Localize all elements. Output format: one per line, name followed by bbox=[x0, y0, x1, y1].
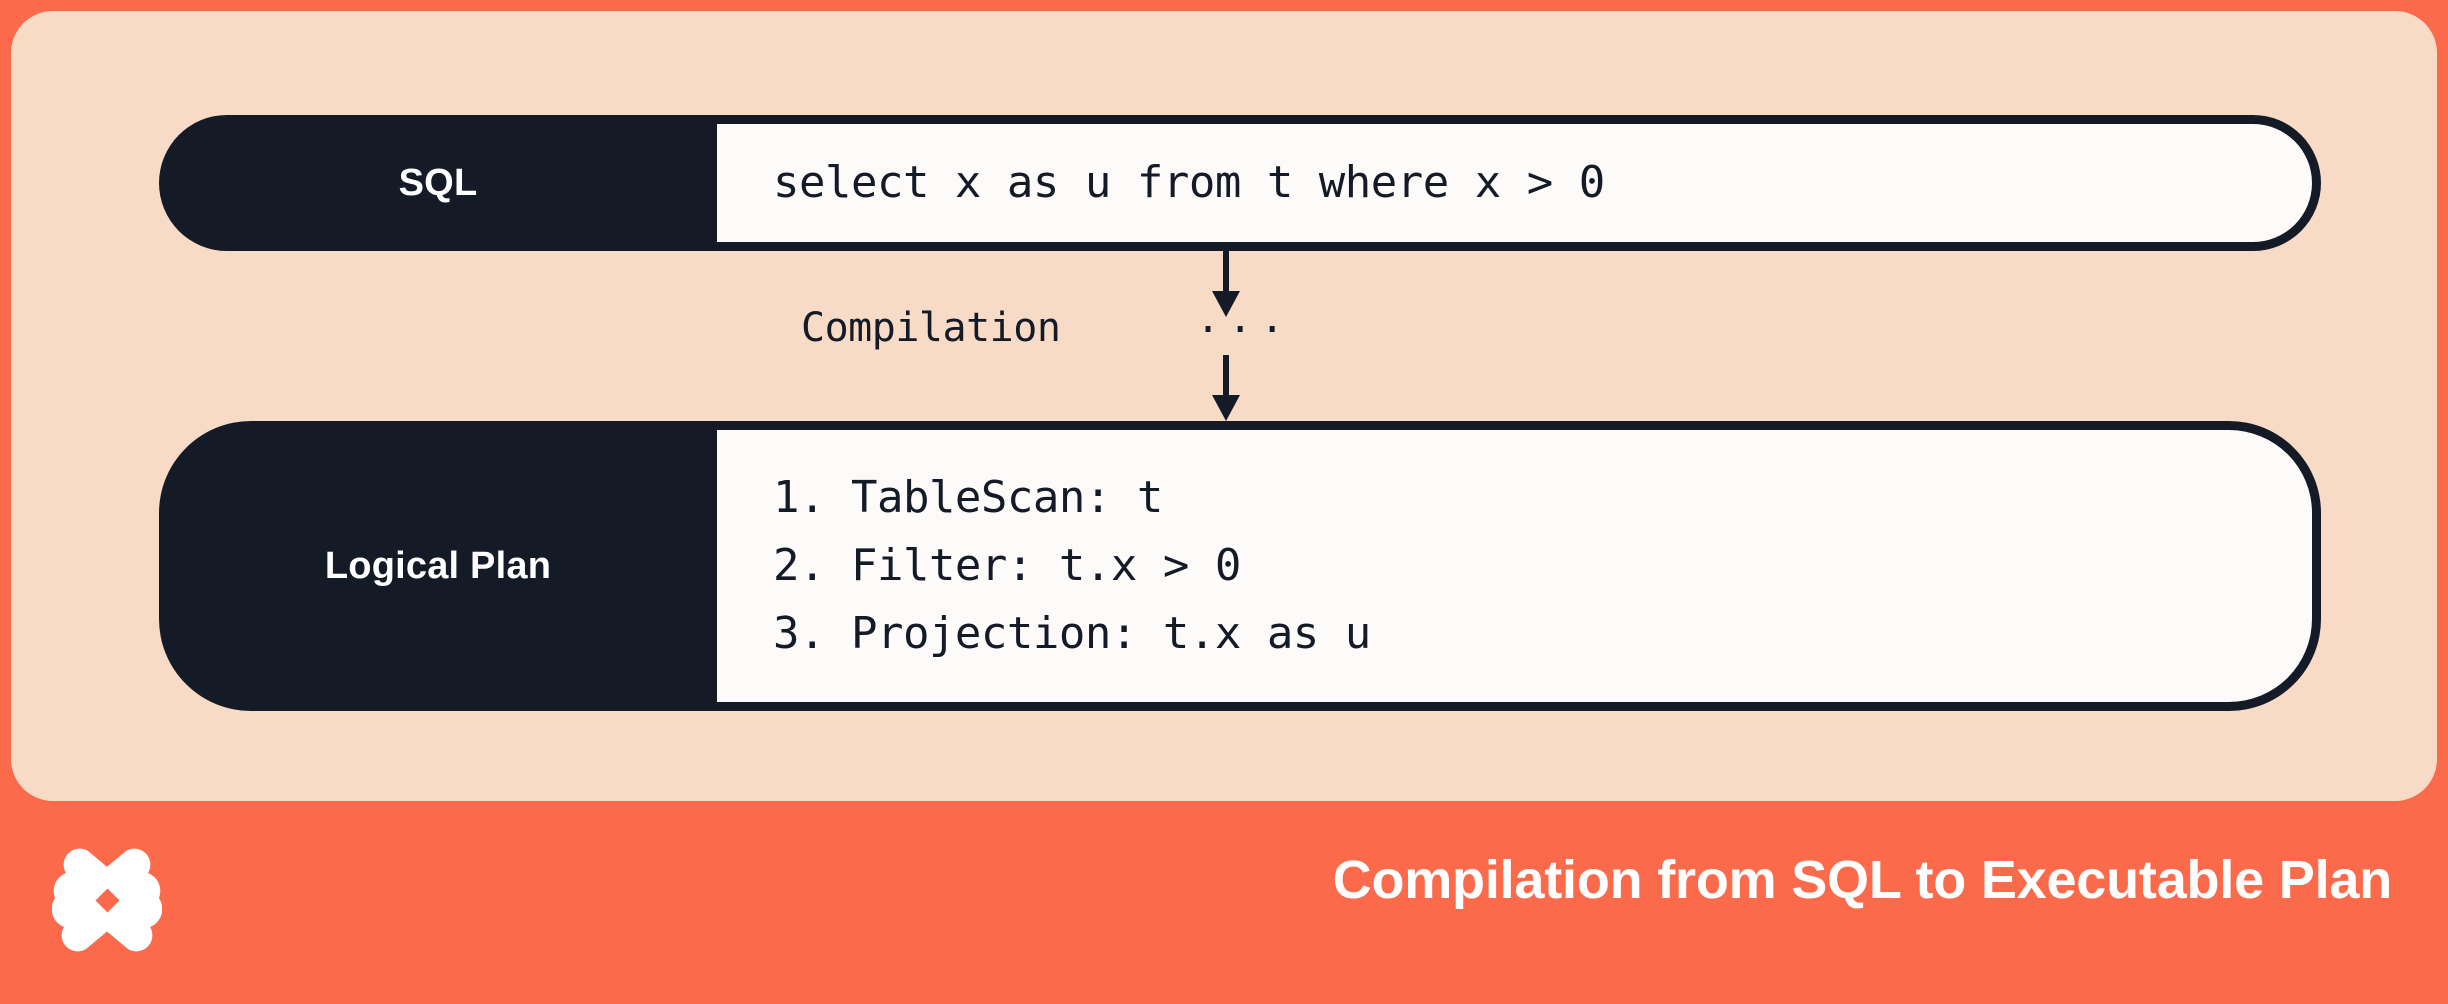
sql-statement: select x as u from t where x > 0 bbox=[773, 149, 2312, 217]
slide-canvas: SQL select x as u from t where x > 0 Com… bbox=[0, 0, 2448, 1004]
content-panel: SQL select x as u from t where x > 0 Com… bbox=[11, 11, 2437, 801]
plan-step: 1. TableScan: t bbox=[773, 464, 2312, 532]
sql-row: SQL select x as u from t where x > 0 bbox=[159, 115, 2321, 251]
plan-step: 2. Filter: t.x > 0 bbox=[773, 532, 2312, 600]
footer-title: Compilation from SQL to Executable Plan bbox=[1333, 849, 2392, 911]
logical-plan-row: Logical Plan 1. TableScan: t 2. Filter: … bbox=[159, 421, 2321, 711]
logical-plan-row-label: Logical Plan bbox=[159, 421, 717, 711]
arrow-down-icon bbox=[1212, 251, 1240, 317]
sql-row-content: select x as u from t where x > 0 bbox=[717, 124, 2312, 242]
logical-plan-row-content: 1. TableScan: t 2. Filter: t.x > 0 3. Pr… bbox=[717, 430, 2312, 702]
x-mark-logo bbox=[52, 845, 162, 955]
transition-label: Compilation bbox=[801, 305, 1060, 351]
footer-bar: Compilation from SQL to Executable Plan bbox=[0, 801, 2448, 1004]
plan-step: 3. Projection: t.x as u bbox=[773, 600, 2312, 668]
sql-row-label: SQL bbox=[159, 115, 717, 251]
transition-arrows bbox=[1191, 251, 1261, 421]
arrow-down-icon bbox=[1212, 355, 1240, 421]
